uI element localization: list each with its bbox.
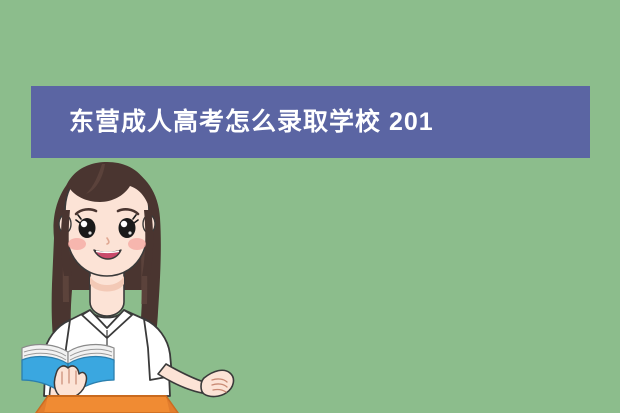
eye-right-highlight xyxy=(121,221,127,227)
skirt xyxy=(36,396,178,413)
student-girl-vector xyxy=(8,152,258,413)
eye-right xyxy=(119,218,136,238)
eye-right-highlight-small xyxy=(128,231,131,234)
eye-left-highlight xyxy=(81,221,87,227)
blush-left xyxy=(68,238,86,250)
eye-left-highlight-small xyxy=(88,231,91,234)
screenshot-canvas: 东营成人高考怎么录取学校 201 xyxy=(0,0,620,413)
blush-right xyxy=(128,238,146,250)
eye-left xyxy=(79,218,96,238)
page-title: 东营成人高考怎么录取学校 201 xyxy=(69,110,434,135)
neck xyxy=(90,270,124,316)
student-girl-illustration xyxy=(8,152,258,413)
title-banner: 东营成人高考怎么录取学校 201 xyxy=(31,86,590,158)
